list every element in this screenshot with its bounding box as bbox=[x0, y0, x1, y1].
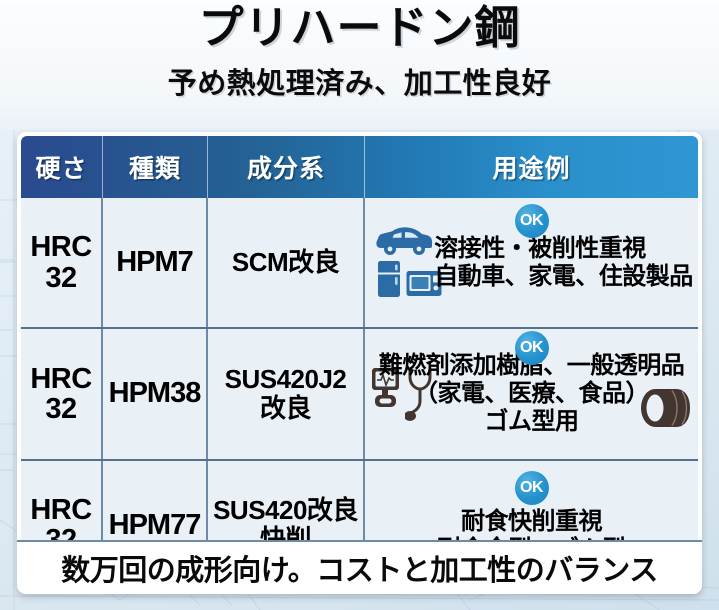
usage-line-2: （家電、医療、食品） bbox=[369, 380, 694, 408]
cell-composition: SUS420J2 改良 bbox=[208, 329, 365, 458]
hardness-line-1: HRC bbox=[30, 232, 91, 262]
hardness-line-2: 32 bbox=[30, 394, 91, 424]
ok-badge: OK bbox=[515, 471, 549, 505]
cell-composition: SCM改良 bbox=[208, 198, 365, 327]
usage-line-3: ゴム型用 bbox=[369, 408, 694, 436]
cell-type: HPM38 bbox=[103, 329, 208, 458]
cell-hardness: HRC 32 bbox=[21, 329, 103, 458]
usage-line-1: 溶接性・被削性重視 bbox=[434, 235, 693, 263]
cell-hardness: HRC 32 bbox=[21, 198, 103, 327]
column-header-type: 種類 bbox=[103, 136, 208, 198]
composition-line-1: SUS420J2 bbox=[225, 365, 347, 394]
column-header-usage: 用途例 bbox=[365, 136, 698, 198]
usage-line-1: 耐食快削重視 bbox=[369, 508, 694, 536]
composition-line-1: SCM改良 bbox=[232, 248, 339, 277]
footer-note-bar: 数万回の成形向け。コストと加工性のバランス bbox=[21, 540, 698, 590]
composition-line-1: SUS420改良 bbox=[213, 496, 358, 525]
table-header-row: 硬さ 種類 成分系 用途例 bbox=[21, 136, 698, 198]
table-body: HRC 32 HPM7 SCM改良 OK bbox=[21, 198, 698, 590]
table-row: HRC 32 HPM38 SUS420J2 改良 OK bbox=[21, 329, 698, 460]
title-block: プリハードン鋼 予め熱処理済み、加工性良好 bbox=[0, 2, 719, 102]
footer-note: 数万回の成形向け。コストと加工性のバランス bbox=[61, 547, 657, 589]
refrigerator-icon bbox=[377, 260, 401, 303]
column-header-composition: 成分系 bbox=[208, 136, 365, 198]
hardness-line-1: HRC bbox=[30, 364, 91, 394]
column-header-hardness: 硬さ bbox=[21, 136, 103, 198]
usage-line-2: 自動車、家電、住設製品 bbox=[434, 263, 693, 291]
hardness-line-2: 32 bbox=[30, 263, 91, 293]
ok-badge: OK bbox=[515, 204, 549, 238]
ok-badge: OK bbox=[515, 331, 549, 365]
page-title: プリハードン鋼 bbox=[0, 2, 719, 54]
spec-table: 硬さ 種類 成分系 用途例 HRC 32 HPM7 SCM改良 bbox=[21, 136, 698, 590]
hardness-line-1: HRC bbox=[30, 495, 91, 525]
car-icon bbox=[375, 226, 433, 261]
cell-usage: OK bbox=[365, 329, 698, 458]
table-row: HRC 32 HPM7 SCM改良 OK bbox=[21, 198, 698, 329]
cell-usage: OK bbox=[365, 198, 698, 327]
composition-line-2: 改良 bbox=[225, 394, 347, 423]
page-subtitle: 予め熱処理済み、加工性良好 bbox=[0, 60, 719, 102]
spec-table-card: 硬さ 種類 成分系 用途例 HRC 32 HPM7 SCM改良 bbox=[17, 132, 702, 594]
cell-type: HPM7 bbox=[103, 198, 208, 327]
